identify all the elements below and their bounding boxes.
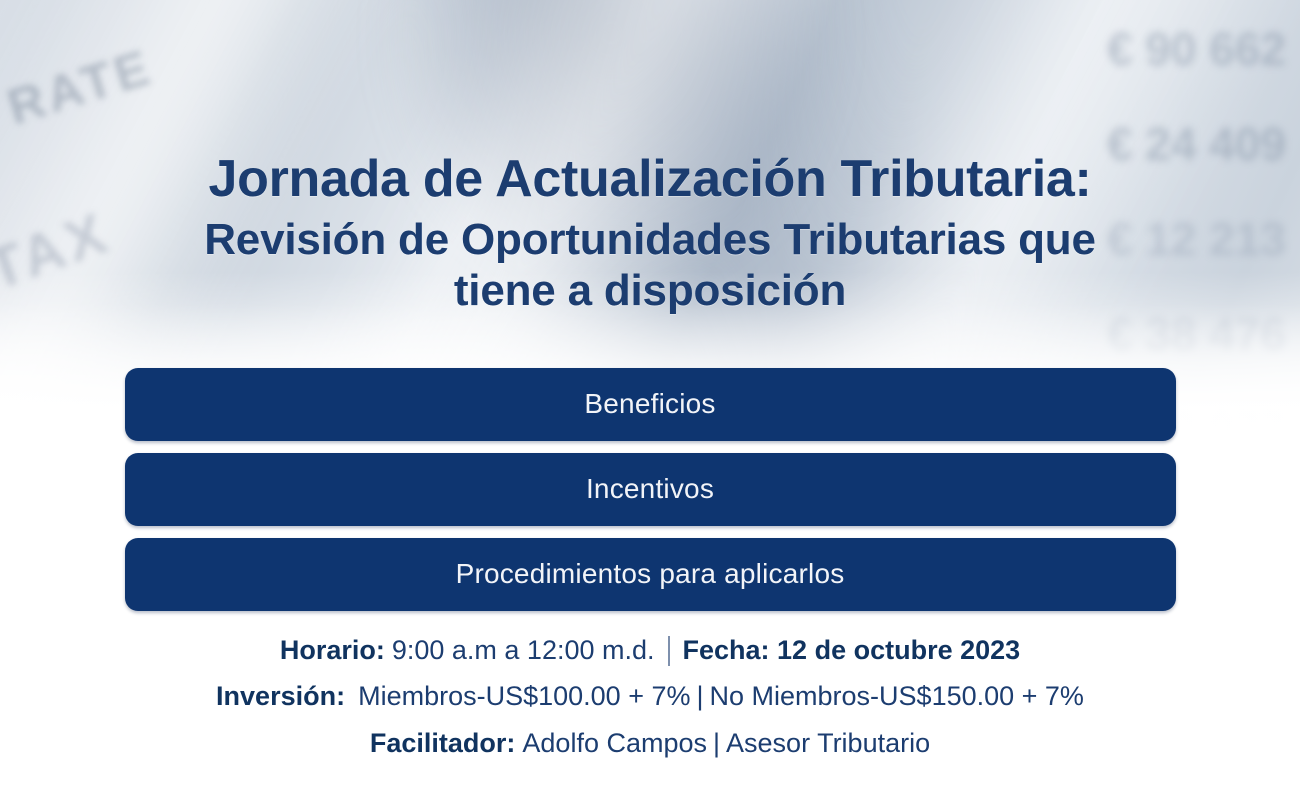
topic-bar-label: Incentivos xyxy=(586,475,714,503)
topic-bar-label: Beneficios xyxy=(584,390,715,418)
event-promo-poster: RATE TAX € 90 662 € 24 409 € 12 213 € 38… xyxy=(0,0,1300,800)
pricing-members: Miembros-US$100.00 + 7% xyxy=(358,679,690,715)
title-line-primary: Jornada de Actualización Tributaria: xyxy=(75,152,1225,208)
detail-row-schedule: Horario: 9:00 a.m a 12:00 m.d. Fecha: 12… xyxy=(0,633,1300,669)
facilitator-separator: | xyxy=(707,726,726,762)
pricing-separator: | xyxy=(691,679,710,715)
topic-bar-incentivos[interactable]: Incentivos xyxy=(125,453,1176,526)
pricing-label: Inversión: xyxy=(216,679,345,715)
page-title: Jornada de Actualización Tributaria: Rev… xyxy=(75,152,1225,316)
pricing-non-members: No Miembros-US$150.00 + 7% xyxy=(710,679,1084,715)
vertical-divider xyxy=(668,636,670,666)
date-text: Fecha: 12 de octubre 2023 xyxy=(683,633,1021,669)
topic-bar-procedimientos[interactable]: Procedimientos para aplicarlos xyxy=(125,538,1176,611)
facilitator-name: Adolfo Campos xyxy=(522,726,707,762)
event-details: Horario: 9:00 a.m a 12:00 m.d. Fecha: 12… xyxy=(0,633,1300,762)
schedule-value: 9:00 a.m a 12:00 m.d. xyxy=(392,633,655,669)
facilitator-role: Asesor Tributario xyxy=(726,726,930,762)
topic-bar-list: Beneficios Incentivos Procedimientos par… xyxy=(125,368,1176,611)
poster-content: Jornada de Actualización Tributaria: Rev… xyxy=(0,0,1300,800)
facilitator-label: Facilitador: xyxy=(370,726,516,762)
schedule-label: Horario: xyxy=(280,633,385,669)
topic-bar-beneficios[interactable]: Beneficios xyxy=(125,368,1176,441)
title-line-secondary: Revisión de Oportunidades Tributarias qu… xyxy=(170,214,1130,316)
topic-bar-label: Procedimientos para aplicarlos xyxy=(456,560,845,588)
detail-row-facilitator: Facilitador: Adolfo Campos | Asesor Trib… xyxy=(0,726,1300,762)
detail-row-pricing: Inversión: Miembros-US$100.00 + 7% | No … xyxy=(0,679,1300,715)
